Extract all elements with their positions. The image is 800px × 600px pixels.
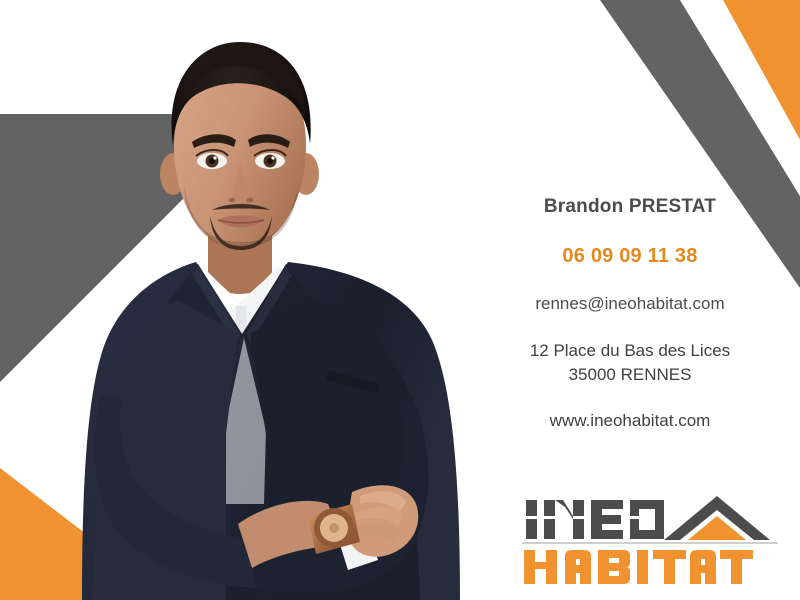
band-orange-top-right <box>723 0 800 138</box>
eye-highlight-right <box>271 156 274 159</box>
contact-email[interactable]: rennes@ineohabitat.com <box>500 294 760 314</box>
nostril-right <box>247 198 254 202</box>
nostril-left <box>229 198 236 202</box>
contact-name: Brandon PRESTAT <box>500 196 760 219</box>
contact-address: 12 Place du Bas des Lices 35000 RENNES <box>500 339 760 387</box>
address-line-1: 12 Place du Bas des Lices <box>500 339 760 363</box>
logo-separator-rule <box>522 542 778 544</box>
band-white-gap-top-right <box>680 0 800 196</box>
contact-website[interactable]: www.ineohabitat.com <box>500 411 760 431</box>
logo-word-ineo <box>526 500 664 539</box>
eye-highlight-left <box>213 156 216 159</box>
address-line-2: 35000 RENNES <box>500 363 760 387</box>
ineo-habitat-logo[interactable] <box>522 494 778 590</box>
portrait-photo <box>60 34 530 600</box>
logo-word-habitat <box>524 550 753 584</box>
business-card: Brandon PRESTAT 06 09 09 11 38 rennes@in… <box>0 0 800 600</box>
contact-info-block: Brandon PRESTAT 06 09 09 11 38 rennes@in… <box>500 196 760 431</box>
band-orange-top-right-2 <box>723 0 800 140</box>
contact-phone[interactable]: 06 09 09 11 38 <box>500 245 760 268</box>
watch-subdial <box>329 523 339 533</box>
roof-chevron-icon <box>664 496 770 540</box>
